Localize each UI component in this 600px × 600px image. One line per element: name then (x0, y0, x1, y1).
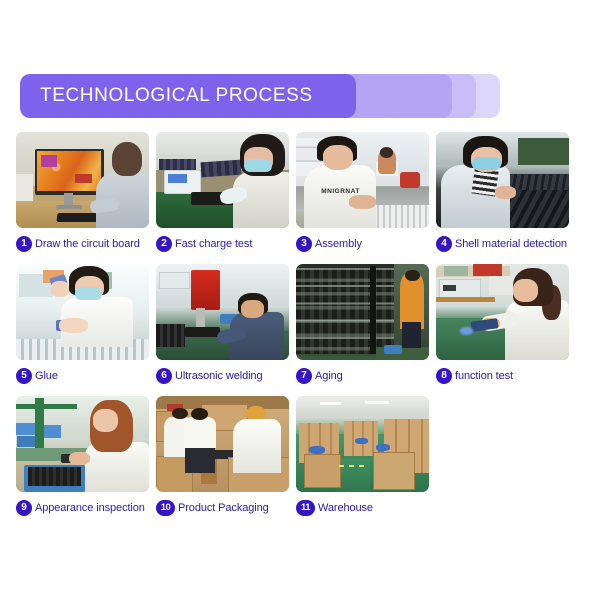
step-badge-9: 9 (16, 500, 32, 516)
caption-step-9: 9 Appearance inspection (16, 492, 149, 521)
process-row-2: 5 Glue 6 Ultrasonic welding (16, 264, 582, 389)
caption-step-8: 8 function test (436, 360, 569, 389)
caption-step-5: 5 Glue (16, 360, 149, 389)
header-banner: TECHNOLOGICAL PROCESS (20, 74, 500, 118)
process-step-7[interactable]: 7 Aging (296, 264, 429, 389)
photo-function-test (436, 264, 569, 360)
caption-step-7: 7 Aging (296, 360, 429, 389)
process-step-empty (436, 396, 569, 521)
step-badge-7: 7 (296, 368, 312, 384)
caption-step-1: 1 Draw the circuit board (16, 228, 149, 257)
photo-assembly: MNIGRNAT (296, 132, 429, 228)
step-badge-5: 5 (16, 368, 32, 384)
caption-step-4: 4 Shell material detection (436, 228, 569, 257)
process-step-2[interactable]: 2 Fast charge test (156, 132, 289, 257)
step-badge-10: 10 (156, 500, 175, 516)
step-label-6: Ultrasonic welding (175, 370, 262, 382)
step-badge-8: 8 (436, 368, 452, 384)
process-step-5[interactable]: 5 Glue (16, 264, 149, 389)
process-steps-grid: 1 Draw the circuit board 2 Fast (16, 132, 582, 528)
step-label-1: Draw the circuit board (35, 238, 140, 250)
photo-glue (16, 264, 149, 360)
caption-step-3: 3 Assembly (296, 228, 429, 257)
process-step-10[interactable]: 10 Product Packaging (156, 396, 289, 521)
photo-appearance-inspection (16, 396, 149, 492)
process-row-3: 9 Appearance inspection 10 (16, 396, 582, 521)
caption-step-6: 6 Ultrasonic welding (156, 360, 289, 389)
photo-draw-the-circuit-board (16, 132, 149, 228)
page-title: TECHNOLOGICAL PROCESS (40, 74, 313, 118)
step-badge-11: 11 (296, 500, 315, 516)
step-label-3: Assembly (315, 238, 362, 250)
photo-aging (296, 264, 429, 360)
process-step-3[interactable]: MNIGRNAT 3 Assembly (296, 132, 429, 257)
process-step-11[interactable]: 11 Warehouse (296, 396, 429, 521)
process-step-8[interactable]: 8 function test (436, 264, 569, 389)
step-badge-3: 3 (296, 236, 312, 252)
caption-step-10: 10 Product Packaging (156, 492, 289, 521)
photo-fast-charge-test (156, 132, 289, 228)
step-label-7: Aging (315, 370, 343, 382)
process-step-6[interactable]: 6 Ultrasonic welding (156, 264, 289, 389)
step-badge-4: 4 (436, 236, 452, 252)
process-row-1: 1 Draw the circuit board 2 Fast (16, 132, 582, 257)
process-step-9[interactable]: 9 Appearance inspection (16, 396, 149, 521)
step-label-9: Appearance inspection (35, 502, 145, 514)
technological-process-infographic: TECHNOLOGICAL PROCESS 1 Draw the circ (0, 0, 600, 600)
step-label-8: function test (455, 370, 513, 382)
photo-ultrasonic-welding (156, 264, 289, 360)
step-badge-6: 6 (156, 368, 172, 384)
caption-step-11: 11 Warehouse (296, 492, 429, 521)
step-label-10: Product Packaging (178, 502, 269, 514)
step-label-2: Fast charge test (175, 238, 252, 250)
photo-product-packaging (156, 396, 289, 492)
caption-step-2: 2 Fast charge test (156, 228, 289, 257)
shirt-print-text: MNIGRNAT (319, 188, 363, 198)
step-label-4: Shell material detection (455, 238, 567, 250)
process-step-4[interactable]: 4 Shell material detection (436, 132, 569, 257)
photo-warehouse (296, 396, 429, 492)
step-label-5: Glue (35, 370, 58, 382)
process-step-1[interactable]: 1 Draw the circuit board (16, 132, 149, 257)
step-badge-1: 1 (16, 236, 32, 252)
step-badge-2: 2 (156, 236, 172, 252)
step-label-11: Warehouse (318, 502, 373, 514)
photo-shell-material-detection (436, 132, 569, 228)
